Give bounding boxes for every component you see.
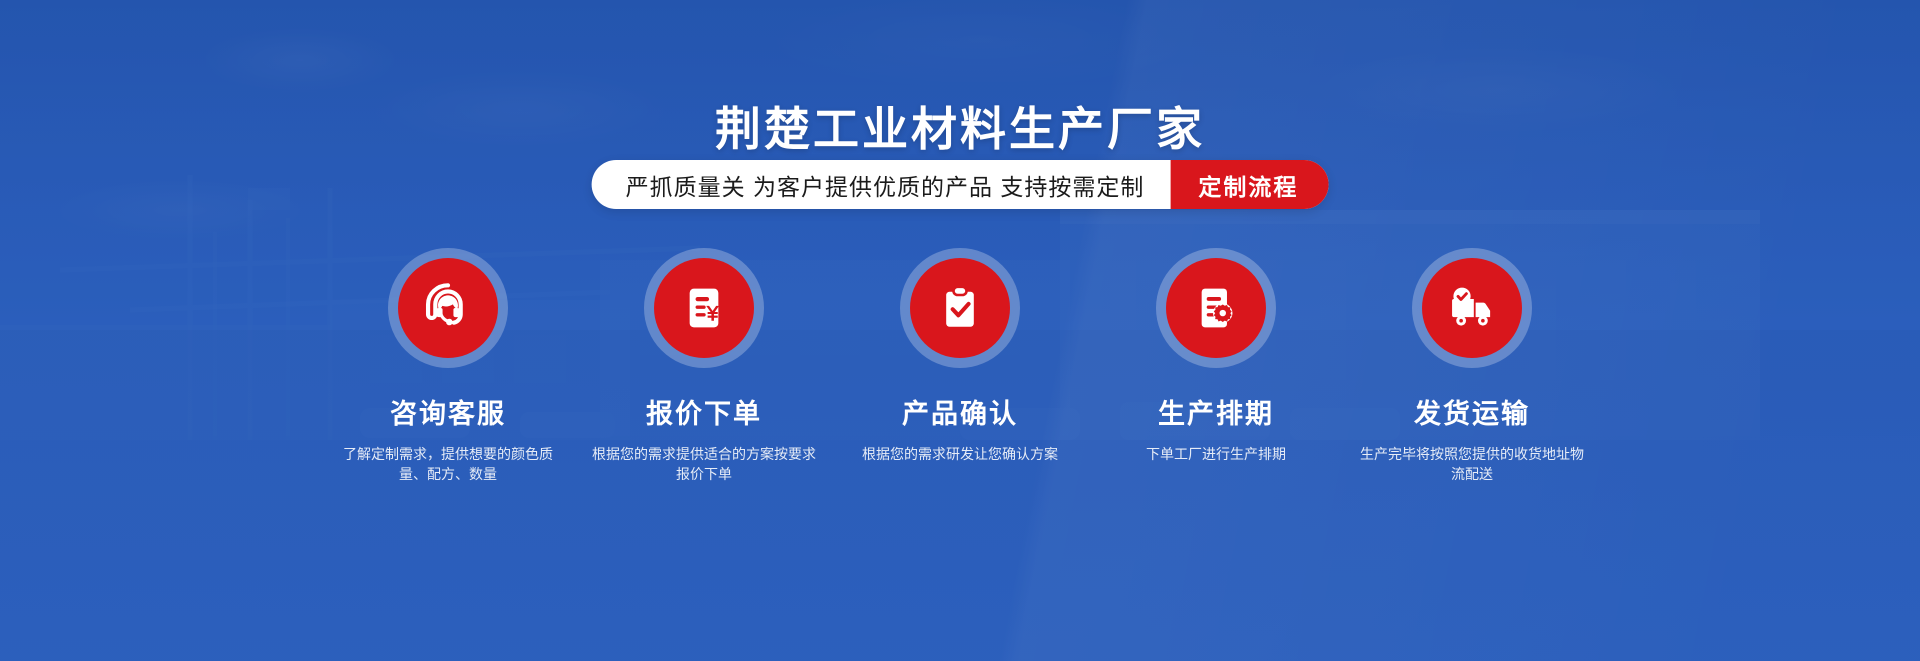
slogan-bar: 严抓质量关 为客户提供优质的产品 支持按需定制 定制流程 <box>592 160 1329 209</box>
headset-support-icon <box>419 279 477 337</box>
step-disc <box>910 258 1010 358</box>
process-steps: 咨询客服 了解定制需求，提供想要的颜色质量、配方、数量 <box>320 248 1600 484</box>
hero-banner: 荆楚工业材料生产厂家 严抓质量关 为客户提供优质的产品 支持按需定制 定制流程 <box>0 0 1920 661</box>
step-title: 发货运输 <box>1414 392 1530 431</box>
delivery-truck-check-icon <box>1443 279 1501 337</box>
step-item-delivery[interactable]: 发货运输 生产完毕将按照您提供的收货地址物流配送 <box>1344 248 1600 484</box>
slogan-text: 严抓质量关 为客户提供优质的产品 支持按需定制 <box>592 160 1171 209</box>
step-disc <box>1422 258 1522 358</box>
step-description: 生产完毕将按照您提供的收货地址物流配送 <box>1357 444 1587 484</box>
step-item-confirm[interactable]: 产品确认 根据您的需求研发让您确认方案 <box>832 248 1088 464</box>
invoice-yuan-icon <box>677 281 731 335</box>
step-description: 了解定制需求，提供想要的颜色质量、配方、数量 <box>333 444 563 484</box>
step-disc <box>1166 258 1266 358</box>
document-gear-icon <box>1189 281 1243 335</box>
step-ring <box>388 248 508 368</box>
step-ring <box>900 248 1020 368</box>
clipboard-check-icon <box>934 282 986 334</box>
step-ring <box>1156 248 1276 368</box>
step-title: 咨询客服 <box>390 392 506 431</box>
step-description: 根据您的需求研发让您确认方案 <box>862 444 1058 464</box>
step-item-consult[interactable]: 咨询客服 了解定制需求，提供想要的颜色质量、配方、数量 <box>320 248 576 484</box>
page-title: 荆楚工业材料生产厂家 <box>0 93 1920 159</box>
step-description: 下单工厂进行生产排期 <box>1146 444 1286 464</box>
step-ring <box>644 248 764 368</box>
step-item-schedule[interactable]: 生产排期 下单工厂进行生产排期 <box>1088 248 1344 464</box>
step-item-quote[interactable]: 报价下单 根据您的需求提供适合的方案按要求报价下单 <box>576 248 832 484</box>
step-disc <box>398 258 498 358</box>
step-description: 根据您的需求提供适合的方案按要求报价下单 <box>589 444 819 484</box>
step-ring <box>1412 248 1532 368</box>
step-title: 产品确认 <box>902 392 1018 431</box>
step-title: 报价下单 <box>646 392 762 431</box>
custom-process-button[interactable]: 定制流程 <box>1170 160 1328 209</box>
step-disc <box>654 258 754 358</box>
step-title: 生产排期 <box>1158 392 1274 431</box>
